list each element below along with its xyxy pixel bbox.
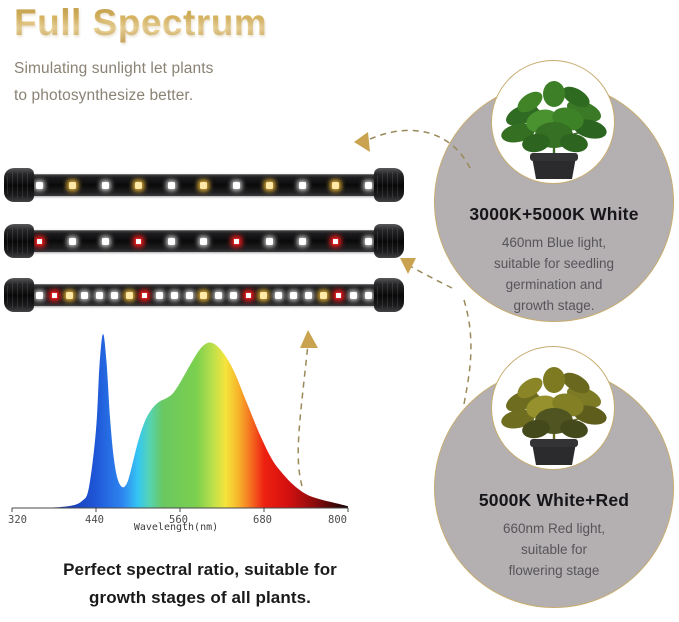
led-white [69,238,76,245]
led-white [186,292,193,299]
led-bar-full-spectrum [4,278,404,312]
callout-body-line: suitable for [448,539,660,560]
subtitle-line-2: to photosynthesize better. [14,82,213,109]
led-warm [66,292,73,299]
page-subtitle: Simulating sunlight let plants to photos… [14,55,213,109]
chart-tick-label: 320 [8,514,27,526]
callout-body: 660nm Red light,suitable forflowering st… [448,518,660,581]
callout-body-line: 660nm Red light, [448,518,660,539]
led-white [230,292,237,299]
led-white [299,182,306,189]
chart-caption: Perfect spectral ratio, suitable for gro… [0,556,400,612]
chart-tick-label: 560 [169,514,188,526]
led-warm [260,292,267,299]
led-red [233,238,240,245]
led-red [335,292,342,299]
led-bar-endcap-left [4,168,34,202]
spectrum-curve [0,326,352,526]
led-white [168,182,175,189]
led-white [81,292,88,299]
chart-tick-label: 440 [85,514,104,526]
caption-line-2: growth stages of all plants. [0,584,400,612]
led-white [168,238,175,245]
led-white [365,182,372,189]
led-white [171,292,178,299]
led-bar-tube [26,284,382,306]
led-white [299,238,306,245]
led-white [275,292,282,299]
led-white [111,292,118,299]
led-bar-endcap-right [374,168,404,202]
subtitle-line-1: Simulating sunlight let plants [14,55,213,82]
led-bar-white-warm [4,168,404,202]
callout-heading: 5000K White+Red [434,490,674,511]
led-bar-endcap-right [374,278,404,312]
callout-white[interactable]: 3000K+5000K White 460nm Blue light,suita… [434,82,674,322]
led-bar-endcap-left [4,278,34,312]
led-red [141,292,148,299]
callout-body-line: suitable for seedling [448,253,660,274]
chart-tick-label: 800 [328,514,347,526]
callout-heading: 3000K+5000K White [434,204,674,225]
led-warm [332,182,339,189]
callout-red[interactable]: 5000K White+Red 660nm Red light,suitable… [434,368,674,608]
plant-illustration [500,367,609,465]
led-white [290,292,297,299]
led-red [332,238,339,245]
led-white [365,292,372,299]
led-warm [200,292,207,299]
led-red [51,292,58,299]
led-white [36,182,43,189]
led-warm [69,182,76,189]
led-bar-endcap-right [374,224,404,258]
led-white [36,292,43,299]
led-warm [200,182,207,189]
led-white [350,292,357,299]
led-white [156,292,163,299]
led-white [365,238,372,245]
led-strip [36,174,372,196]
led-white [96,292,103,299]
callout-body-line: flowering stage [448,560,660,581]
led-bar-white-red [4,224,404,258]
led-white [102,238,109,245]
led-white [305,292,312,299]
callout-body-line: germination and [448,274,660,295]
plant-illustration [500,81,609,179]
plant-photo-white [491,60,615,184]
led-red [245,292,252,299]
led-red [36,238,43,245]
led-white [102,182,109,189]
led-warm [266,182,273,189]
led-bar-endcap-left [4,224,34,258]
led-white [200,238,207,245]
spectrum-area [12,334,348,508]
chart-tick-label: 680 [253,514,272,526]
caption-line-1: Perfect spectral ratio, suitable for [0,556,400,584]
led-warm [126,292,133,299]
led-warm [320,292,327,299]
page-title: Full Spectrum [14,2,267,44]
infographic-root: Full Spectrum Simulating sunlight let pl… [0,0,679,622]
arrowhead-middle-icon [400,258,416,274]
arrowhead-top-icon [354,132,370,152]
callout-body-line: 460nm Blue light, [448,232,660,253]
led-strip [36,230,372,252]
led-bar-tube [26,174,382,196]
led-white [233,182,240,189]
spectrum-chart: Wavelength(nm) 320440560680800 [0,326,352,542]
led-red [135,238,142,245]
callout-body-line: growth stage. [448,295,660,316]
led-bar-tube [26,230,382,252]
led-strip [36,284,372,306]
led-white [215,292,222,299]
plant-photo-red [491,346,615,470]
callout-body: 460nm Blue light,suitable for seedlingge… [448,232,660,316]
led-warm [135,182,142,189]
led-white [266,238,273,245]
